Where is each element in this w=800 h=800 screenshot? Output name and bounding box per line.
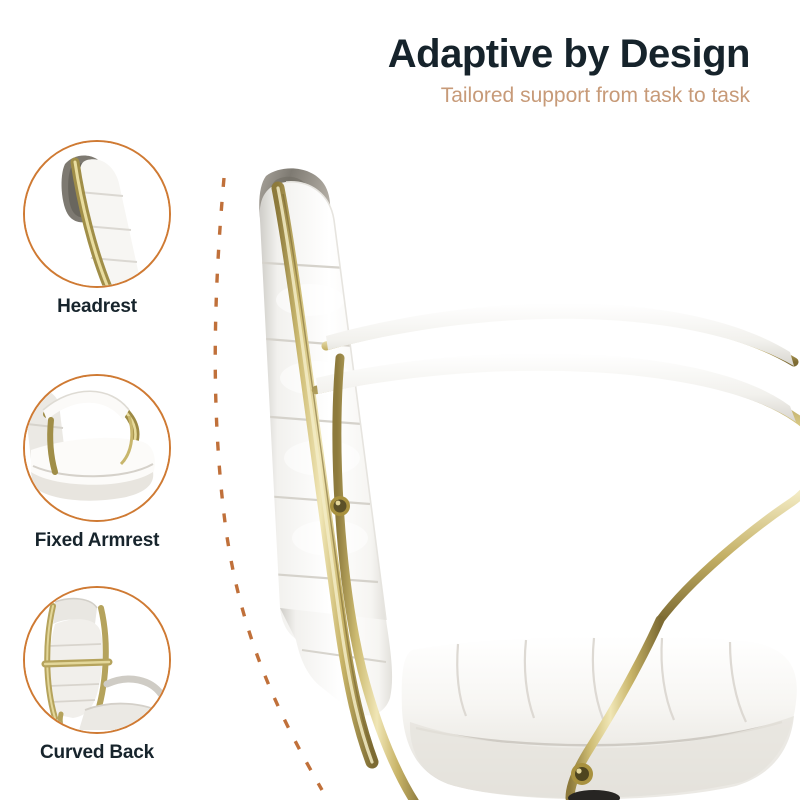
chair-side-profile-illustration [190, 150, 800, 800]
product-feature-infographic: Adaptive by Design Tailored support from… [0, 0, 800, 800]
main-chair-image [190, 150, 800, 800]
seat-cushion [402, 636, 797, 800]
callout-label-curved-back: Curved Back [12, 742, 182, 764]
page-subtitle: Tailored support from task to task [441, 84, 750, 108]
callout-headrest[interactable]: Headrest [12, 140, 182, 318]
header: Adaptive by Design Tailored support from… [0, 0, 800, 130]
callout-fixed-armrest[interactable]: Fixed Armrest [12, 374, 182, 552]
headrest-closeup-photo [25, 142, 169, 286]
fixed-armrest-closeup-photo [25, 376, 169, 520]
curved-back-closeup-photo [25, 588, 169, 732]
callout-label-fixed-armrest: Fixed Armrest [12, 530, 182, 552]
headrest-closeup-circle [23, 140, 171, 288]
callout-label-headrest: Headrest [12, 296, 182, 318]
callout-curved-back[interactable]: Curved Back [12, 586, 182, 764]
fixed-armrest-closeup-circle [23, 374, 171, 522]
page-title: Adaptive by Design [388, 32, 750, 77]
curved-back-closeup-circle [23, 586, 171, 734]
